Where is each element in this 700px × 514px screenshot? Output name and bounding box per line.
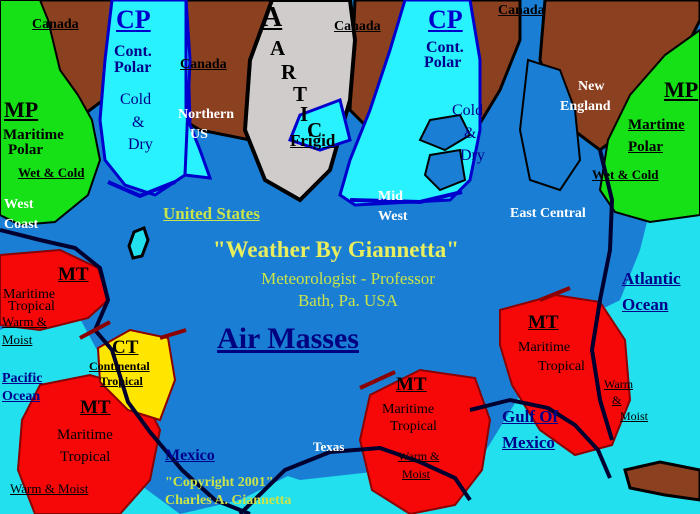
label-canada-east: Canada — [498, 4, 545, 19]
label-cp-east-prop2: & — [464, 126, 476, 143]
label-ct-name1: Continental — [89, 360, 150, 373]
brand-subtitle: Meteorologist - Professor — [261, 270, 435, 288]
label-cp-east-abbr: CP — [428, 6, 463, 33]
label-mt-pac-n-name2: Tropical — [8, 300, 55, 315]
label-mt-gulf-abbr: MT — [396, 375, 427, 395]
label-cp-east-prop3: Dry — [460, 148, 485, 165]
label-mt-atl-prop1: Warm — [604, 378, 633, 391]
label-mp-east-abbr: MP — [664, 78, 698, 101]
label-texas: Texas — [313, 440, 344, 454]
label-mt-gulf-name1: Maritime — [382, 403, 434, 418]
label-cp-west-abbr: CP — [116, 6, 151, 33]
label-canada-central: Canada — [180, 58, 227, 73]
label-gulf-of-mexico-1: Gulf Of — [502, 408, 558, 426]
brand-title: "Weather By Giannetta" — [213, 238, 459, 262]
label-gulf-of-mexico-2: Mexico — [502, 434, 555, 452]
label-cp-west-prop2: & — [132, 115, 144, 132]
label-cp-west-prop1: Cold — [120, 92, 151, 109]
label-mt-atl-name1: Maritime — [518, 341, 570, 356]
label-arctic-frigid: Frigid — [290, 132, 335, 150]
label-mp-west-name2: Polar — [8, 143, 43, 159]
label-pacific-ocean-1: Pacific — [2, 372, 42, 387]
label-mt-atl-prop2: & — [612, 394, 621, 407]
label-mt-gulf-prop2: Moist — [402, 468, 430, 481]
label-northern-us-2: US — [190, 128, 208, 143]
label-east-central: East Central — [510, 207, 586, 222]
copyright-line-2: Charles A. Giannetta — [165, 494, 291, 509]
label-mid-west-2: West — [378, 210, 408, 225]
label-new-england-2: England — [560, 100, 611, 115]
label-cp-east-prop1: Cold — [452, 103, 483, 120]
label-atlantic-ocean-1: Atlantic — [622, 270, 681, 288]
label-mt-atl-prop3: Moist — [620, 410, 648, 423]
label-mt-pac-s-name1: Maritime — [57, 428, 113, 444]
label-cp-east-name2: Polar — [424, 55, 461, 72]
label-northern-us-1: Northern — [178, 108, 234, 123]
label-ct-name2: Tropical — [100, 375, 143, 388]
label-cp-west-name2: Polar — [114, 60, 151, 77]
label-mt-atl-name2: Tropical — [538, 360, 585, 375]
label-west-coast-2: Coast — [4, 218, 38, 233]
label-mt-pac-n-abbr: MT — [58, 265, 89, 285]
label-mid-west-1: Mid — [378, 190, 403, 205]
label-cp-west-prop3: Dry — [128, 137, 153, 154]
air-mass-map: Canada Canada Canada Canada A A R T I C … — [0, 0, 700, 514]
label-ct-abbr: CT — [112, 338, 138, 358]
label-arctic-letter-a: A — [270, 36, 285, 61]
label-mt-pac-s-name2: Tropical — [60, 450, 110, 466]
copyright-line-1: "Copyright 2001" — [165, 476, 274, 491]
label-mt-atl-abbr: MT — [528, 313, 559, 333]
label-mp-east-name2: Polar — [628, 140, 663, 156]
label-arctic-abbr: A — [262, 2, 282, 34]
label-mt-gulf-prop1: Warm & — [398, 450, 439, 463]
brand-location: Bath, Pa. USA — [298, 292, 398, 310]
label-mt-pac-n-prop2: Moist — [2, 333, 32, 347]
label-atlantic-ocean-2: Ocean — [622, 296, 668, 314]
label-mp-east-name1: Martime — [628, 118, 685, 134]
label-mt-gulf-name2: Tropical — [390, 420, 437, 435]
label-mp-west-prop1: Wet & Cold — [18, 166, 84, 180]
label-canada-west: Canada — [32, 18, 79, 33]
label-mexico: Mexico — [165, 448, 215, 465]
label-mt-pac-s-prop1: Warm & Moist — [10, 482, 88, 496]
label-mt-pac-s-abbr: MT — [80, 398, 111, 418]
label-pacific-ocean-2: Ocean — [2, 390, 40, 405]
label-canada-hudson: Canada — [334, 20, 381, 35]
label-west-coast-1: West — [4, 198, 34, 213]
label-mp-west-abbr: MP — [4, 98, 38, 121]
label-united-states: United States — [163, 205, 260, 223]
label-new-england-1: New — [578, 80, 604, 95]
label-mp-east-prop1: Wet & Cold — [592, 168, 658, 182]
page-title: Air Masses — [217, 323, 359, 355]
label-mt-pac-n-prop1: Warm & — [2, 315, 47, 329]
